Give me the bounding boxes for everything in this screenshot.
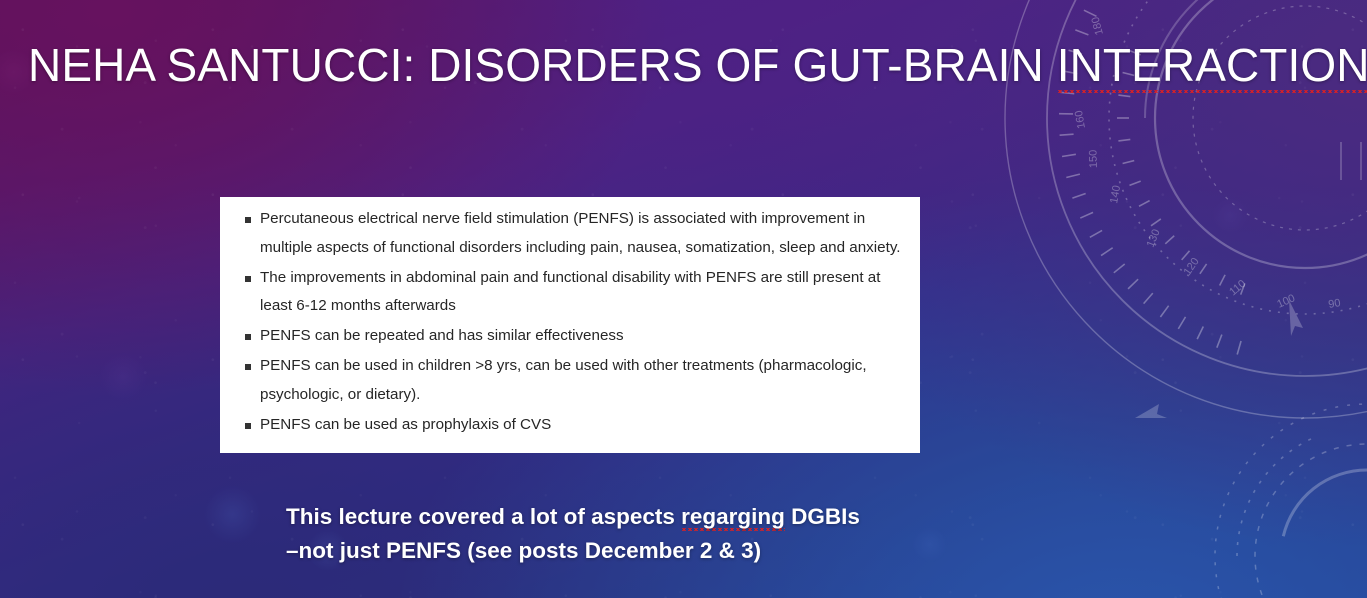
list-item: PENFS can be used as prophylaxis of CVS — [232, 411, 906, 440]
caption-line-1: This lecture covered a lot of aspects re… — [286, 500, 1186, 534]
list-item: PENFS can be used in children >8 yrs, ca… — [232, 352, 906, 410]
list-item: PENFS can be repeated and has similar ef… — [232, 322, 906, 351]
list-item: Percutaneous electrical nerve field stim… — [232, 205, 906, 263]
caption-line-1-before: This lecture covered a lot of aspects — [286, 504, 681, 529]
caption-misspelled-word: regarging — [681, 504, 785, 531]
bullet-list: Percutaneous electrical nerve field stim… — [232, 205, 906, 439]
content-card: Percutaneous electrical nerve field stim… — [220, 197, 920, 453]
caption-line-2: –not just PENFS (see posts December 2 & … — [286, 534, 1186, 568]
caption-line-1-after: DGBIs — [785, 504, 860, 529]
slide-title: NEHA SANTUCCI: DISORDERS OF GUT-BRAIN IN… — [28, 38, 1348, 92]
list-item: The improvements in abdominal pain and f… — [232, 264, 906, 322]
slide-title-text: NEHA SANTUCCI: DISORDERS OF GUT-BRAIN — [28, 39, 1057, 91]
slide-title-misspelled-word: INTERACTION — [1057, 39, 1367, 93]
slide-caption: This lecture covered a lot of aspects re… — [286, 500, 1186, 568]
presentation-slide: 180 160 150 140 130 120 110 100 90 NEHA … — [0, 0, 1367, 598]
